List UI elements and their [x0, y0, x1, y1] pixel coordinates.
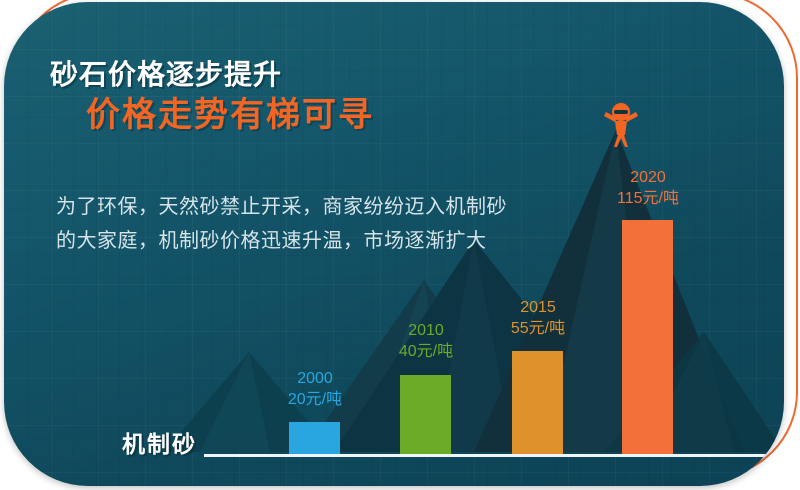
body-paragraph: 为了环保，天然砂禁止开采，商家纷纷迈入机制砂的大家庭，机制砂价格迅速升温，市场逐… — [56, 190, 516, 258]
bar-2015[interactable] — [512, 351, 563, 454]
axis-category-label: 机制砂 — [122, 425, 197, 459]
bar-label-2015-year: 2015 — [492, 297, 584, 318]
bar-label-2015-value: 55元/吨 — [492, 318, 584, 339]
bar-label-2020-value: 115元/吨 — [602, 188, 694, 209]
bar-label-2010-year: 2010 — [380, 320, 472, 341]
headline-secondary: 价格走势有梯可寻 — [86, 97, 374, 134]
bar-label-2010: 2010 40元/吨 — [380, 320, 472, 362]
bar-label-2000-value: 20元/吨 — [269, 389, 361, 410]
bar-2000[interactable] — [289, 422, 340, 454]
bar-label-2020-year: 2020 — [602, 167, 694, 188]
bar-2010[interactable] — [400, 375, 451, 454]
bar-label-2020: 2020 115元/吨 — [602, 167, 694, 209]
baseline-axis — [204, 454, 769, 457]
person-cheering-icon — [602, 102, 640, 148]
bar-label-2000-year: 2000 — [269, 368, 361, 389]
teal-panel: 砂石价格逐步提升 价格走势有梯可寻 为了环保，天然砂禁止开采，商家纷纷迈入机制砂… — [4, 2, 784, 486]
headline-block: 砂石价格逐步提升 价格走势有梯可寻 — [50, 60, 374, 134]
headline-primary: 砂石价格逐步提升 — [50, 60, 374, 91]
bar-label-2015: 2015 55元/吨 — [492, 297, 584, 339]
bar-label-2000: 2000 20元/吨 — [269, 368, 361, 410]
infographic-canvas: 砂石价格逐步提升 价格走势有梯可寻 为了环保，天然砂禁止开采，商家纷纷迈入机制砂… — [0, 0, 800, 490]
bar-label-2010-value: 40元/吨 — [380, 341, 472, 362]
bar-2020[interactable] — [622, 220, 673, 454]
